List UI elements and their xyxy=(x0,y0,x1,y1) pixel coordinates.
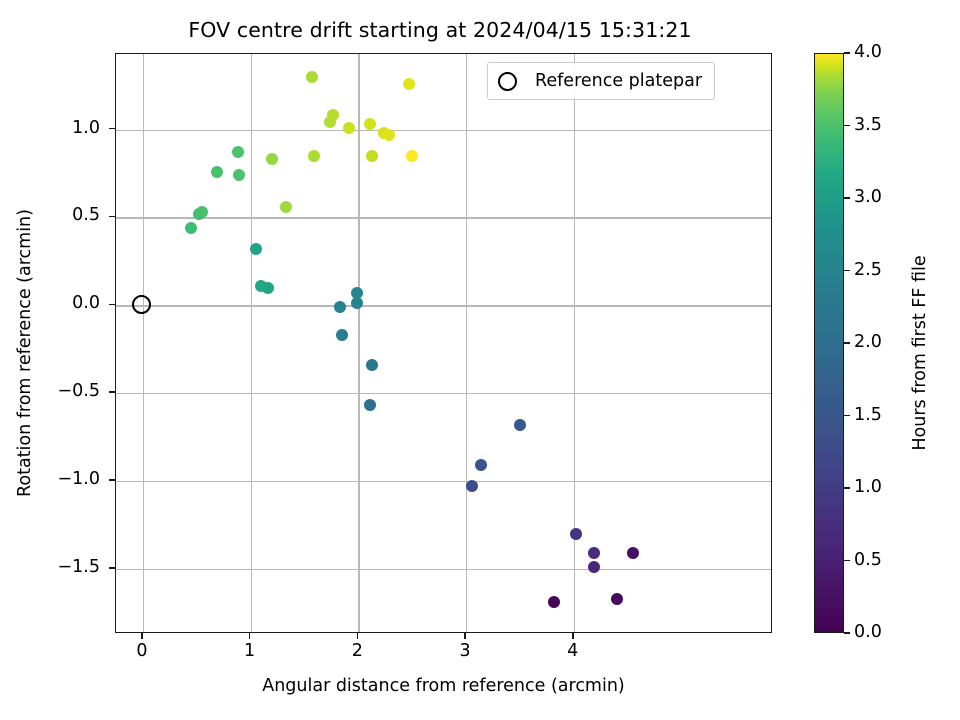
x-tick-mark xyxy=(464,633,466,639)
scatter-point xyxy=(334,301,346,313)
x-tick-mark xyxy=(249,633,251,639)
colorbar-label: Hours from first FF file xyxy=(910,63,930,643)
scatter-point xyxy=(250,243,262,255)
colorbar-tick-mark xyxy=(844,52,850,54)
colorbar-tick-mark xyxy=(844,632,850,634)
scatter-point xyxy=(327,109,339,121)
colorbar-tick-mark xyxy=(844,197,850,199)
scatter-point xyxy=(306,71,318,83)
matplotlib-figure: FOV centre drift starting at 2024/04/15 … xyxy=(0,0,960,720)
page-title: FOV centre drift starting at 2024/04/15 … xyxy=(0,18,880,42)
colorbar-tick-label: 2.5 xyxy=(854,260,882,280)
colorbar-tick-mark xyxy=(844,487,850,489)
reference-platepar-marker-icon xyxy=(498,72,517,91)
colorbar-tick-mark xyxy=(844,342,850,344)
plot-area xyxy=(116,54,771,632)
y-tick-mark xyxy=(109,567,115,569)
gridline-horizontal xyxy=(116,393,771,394)
colorbar-tick-label: 0.5 xyxy=(854,550,882,570)
colorbar: 0.00.51.01.52.02.53.03.54.0 xyxy=(814,53,844,633)
colorbar-tick-label: 1.5 xyxy=(854,405,882,425)
colorbar-tick-label: 3.5 xyxy=(854,115,882,135)
scatter-point xyxy=(466,480,478,492)
gridline-horizontal xyxy=(116,569,771,570)
scatter-point xyxy=(570,528,582,540)
x-tick-label: 2 xyxy=(327,641,387,661)
y-tick-mark xyxy=(109,128,115,130)
colorbar-tick-label: 3.0 xyxy=(854,187,882,207)
gridline-horizontal xyxy=(116,305,771,306)
x-tick-mark xyxy=(357,633,359,639)
gridline-vertical xyxy=(358,54,359,632)
scatter-point xyxy=(232,146,244,158)
gridline-vertical xyxy=(251,54,252,632)
x-tick-label: 3 xyxy=(435,641,495,661)
scatter-point xyxy=(403,78,415,90)
y-tick-mark xyxy=(109,216,115,218)
scatter-point xyxy=(343,122,355,134)
scatter-point xyxy=(262,282,274,294)
y-tick-mark xyxy=(109,479,115,481)
colorbar-tick-mark xyxy=(844,560,850,562)
x-tick-mark xyxy=(141,633,143,639)
gridline-horizontal xyxy=(116,481,771,482)
legend-item-label: Reference platepar xyxy=(535,71,702,91)
colorbar-tick-label: 0.0 xyxy=(854,622,882,642)
x-tick-label: 4 xyxy=(543,641,603,661)
colorbar-tick-label: 2.0 xyxy=(854,332,882,352)
x-tick-label: 1 xyxy=(220,641,280,661)
scatter-point xyxy=(611,593,623,605)
colorbar-tick-label: 1.0 xyxy=(854,477,882,497)
colorbar-gradient xyxy=(814,53,844,633)
scatter-point xyxy=(233,169,245,181)
scatter-point xyxy=(406,150,418,162)
gridline-vertical xyxy=(143,54,144,632)
colorbar-tick-mark xyxy=(844,415,850,417)
scatter-point xyxy=(514,419,526,431)
legend[interactable]: Reference platepar xyxy=(487,62,715,100)
scatter-point xyxy=(211,166,223,178)
y-axis-label: Rotation from reference (arcmin) xyxy=(15,63,35,643)
scatter-point xyxy=(308,150,320,162)
gridline-horizontal xyxy=(116,217,771,218)
scatter-point xyxy=(627,547,639,559)
x-tick-mark xyxy=(572,633,574,639)
plot-axes xyxy=(115,53,772,633)
y-tick-mark xyxy=(109,391,115,393)
x-tick-label: 0 xyxy=(112,641,172,661)
colorbar-tick-label: 4.0 xyxy=(854,42,882,62)
gridline-vertical xyxy=(574,54,575,632)
colorbar-tick-mark xyxy=(844,125,850,127)
gridline-vertical xyxy=(466,54,467,632)
scatter-point xyxy=(383,129,395,141)
scatter-point xyxy=(280,201,292,213)
y-tick-mark xyxy=(109,304,115,306)
x-axis-label: Angular distance from reference (arcmin) xyxy=(115,676,772,696)
gridline-horizontal xyxy=(116,130,771,131)
colorbar-tick-mark xyxy=(844,270,850,272)
